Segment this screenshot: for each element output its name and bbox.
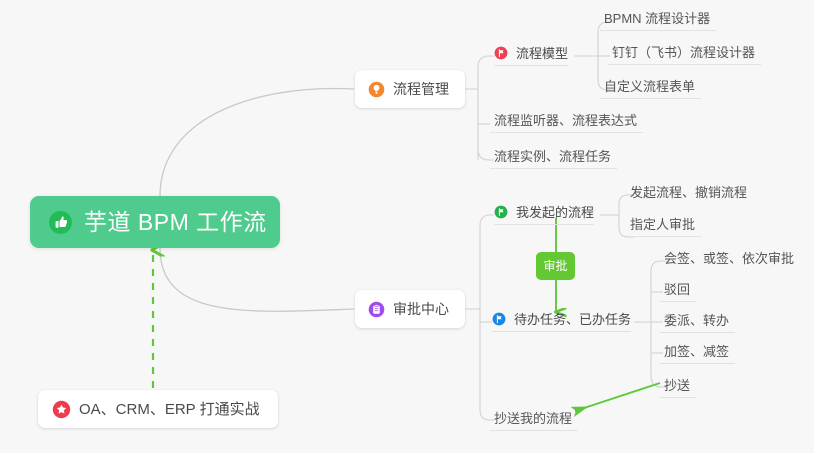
flag-icon <box>494 205 508 219</box>
node-label: 待办任务、已办任务 <box>514 313 631 326</box>
leaf-cc[interactable]: 抄送 <box>660 379 696 398</box>
leaf-assignee-approve[interactable]: 指定人审批 <box>626 218 701 237</box>
leaf-cc-my-flow[interactable]: 抄送我的流程 <box>490 412 578 431</box>
root-label: 芋道 BPM 工作流 <box>84 211 267 234</box>
node-approval-center[interactable]: 审批中心 <box>355 290 465 328</box>
node-todo-done-tasks[interactable]: 待办任务、已办任务 <box>492 312 631 332</box>
leaf-reject[interactable]: 驳回 <box>660 283 696 302</box>
flag-icon <box>492 312 506 326</box>
leaf-dingtalk-designer[interactable]: 钉钉（飞书）流程设计器 <box>608 46 761 65</box>
leaf-flow-listener-expression[interactable]: 流程监听器、流程表达式 <box>490 114 643 133</box>
leaf-flow-instance-task[interactable]: 流程实例、流程任务 <box>490 150 617 169</box>
mindmap-canvas: 芋道 BPM 工作流 流程管理 审批中心 <box>0 0 814 453</box>
node-flow-management[interactable]: 流程管理 <box>355 70 465 108</box>
lightbulb-icon <box>368 81 385 98</box>
flag-icon <box>494 46 508 60</box>
star-icon <box>52 400 71 419</box>
node-label: 审批中心 <box>393 302 449 316</box>
annotation-badge-approve: 审批 <box>536 252 575 280</box>
leaf-bpmn-designer[interactable]: BPMN 流程设计器 <box>600 12 716 31</box>
node-oa-crm-erp[interactable]: OA、CRM、ERP 打通实战 <box>38 390 278 428</box>
arrow-cc-to-my-flow <box>575 383 660 411</box>
leaf-start-cancel-flow[interactable]: 发起流程、撤销流程 <box>626 186 753 204</box>
leaf-sign-modes[interactable]: 会签、或签、依次审批 <box>660 252 800 270</box>
node-my-initiated-flows[interactable]: 我发起的流程 <box>494 205 594 225</box>
node-label: 我发起的流程 <box>516 206 594 219</box>
node-label: 流程管理 <box>393 82 449 96</box>
leaf-add-remove-sign[interactable]: 加签、减签 <box>660 345 735 364</box>
edge-root-to-flow-management <box>160 89 354 196</box>
root-node[interactable]: 芋道 BPM 工作流 <box>30 196 280 248</box>
leaf-custom-form[interactable]: 自定义流程表单 <box>600 80 701 99</box>
edge-root-to-approval-center <box>160 248 354 311</box>
node-label: 流程模型 <box>516 47 568 60</box>
leaf-delegate-transfer[interactable]: 委派、转办 <box>660 314 735 333</box>
node-label: OA、CRM、ERP 打通实战 <box>79 402 260 417</box>
clipboard-icon <box>368 301 385 318</box>
node-flow-model[interactable]: 流程模型 <box>494 46 568 66</box>
thumbs-up-icon <box>48 210 73 235</box>
